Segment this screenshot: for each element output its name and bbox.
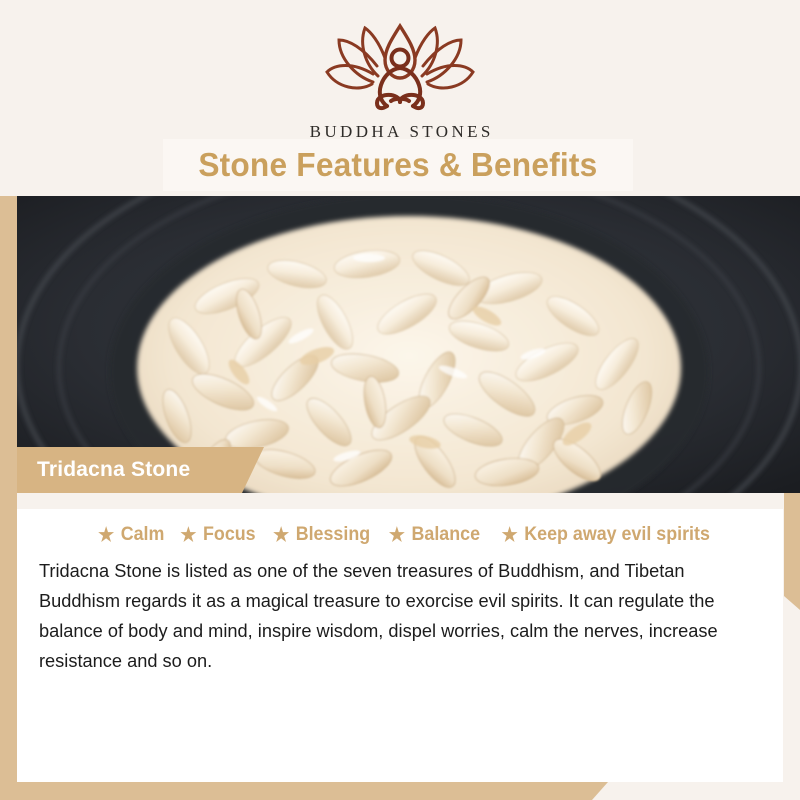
- stone-name-badge: Tridacna Stone: [17, 447, 264, 493]
- decor-left-bar: [0, 196, 17, 800]
- star-icon: ★: [273, 526, 289, 545]
- star-icon: ★: [181, 526, 197, 545]
- benefit-label: Focus: [203, 524, 256, 546]
- decor-bottom-bar: [0, 782, 608, 800]
- benefit-label: Calm: [121, 524, 165, 546]
- stone-description: Tridacna Stone is listed as one of the s…: [37, 556, 752, 676]
- content-top-strip: [17, 493, 783, 509]
- star-icon: ★: [98, 526, 114, 545]
- title-banner: Stone Features & Benefits: [163, 139, 633, 191]
- benefits-list: ★ Calm ★ Focus ★ Blessing ★ Balance ★ Ke…: [37, 524, 763, 546]
- benefit-item: ★ Blessing: [273, 524, 370, 546]
- benefit-item: ★ Focus: [181, 524, 256, 546]
- benefit-label: Blessing: [296, 524, 370, 546]
- benefit-item: ★ Keep away evil spirits: [501, 524, 709, 546]
- page-title: Stone Features & Benefits: [198, 146, 597, 184]
- benefit-item: ★ Calm: [98, 524, 164, 546]
- stone-name: Tridacna Stone: [37, 458, 190, 482]
- star-icon: ★: [389, 526, 405, 545]
- benefit-label: Keep away evil spirits: [524, 524, 710, 546]
- promo-page: BUDDHA STONES Stone Features & Benefits: [0, 0, 800, 800]
- content-panel: ★ Calm ★ Focus ★ Blessing ★ Balance ★ Ke…: [17, 509, 783, 782]
- benefit-item: ★ Balance: [389, 524, 480, 546]
- decor-right-bar-lower: [784, 490, 800, 610]
- lotus-meditation-icon: [315, 22, 485, 118]
- brand-logo: BUDDHA STONES: [0, 22, 800, 142]
- benefit-label: Balance: [411, 524, 480, 546]
- star-icon: ★: [501, 526, 517, 545]
